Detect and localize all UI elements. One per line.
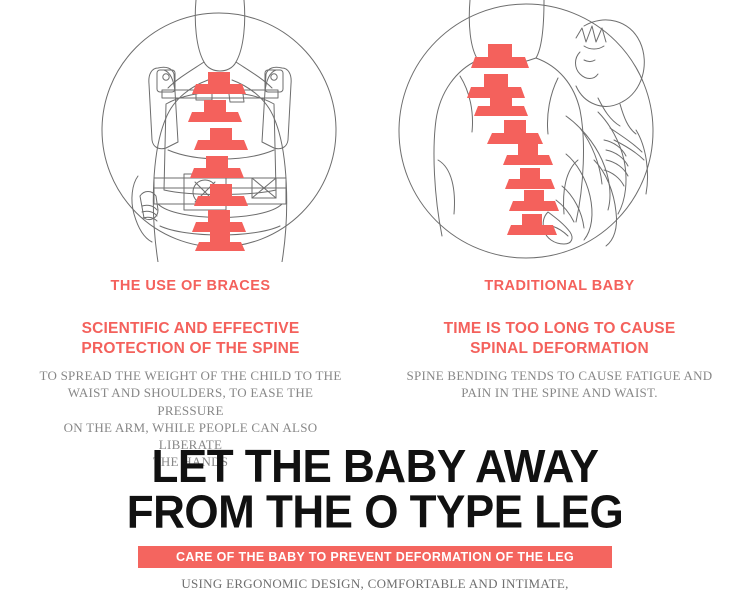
baby-carrier-spine-illustration (100, 0, 340, 267)
kicker-right: TRADITIONAL BABY (403, 278, 716, 295)
headline-line-1: LET THE BABY AWAY (0, 444, 750, 490)
body-right-line2: PAIN IN THE SPINE AND WAIST. (461, 385, 657, 400)
subhead-left-line2: PROTECTION OF THE SPINE (81, 340, 299, 357)
kicker-left: THE USE OF BRACES (34, 278, 347, 295)
body-right-line1: SPINE BENDING TENDS TO CAUSE FATIGUE AND (407, 368, 713, 383)
illustrations-row (0, 0, 750, 268)
body-left-line2: WAIST AND SHOULDERS, TO EASE THE PRESSUR… (68, 385, 313, 417)
body-left-line1: TO SPREAD THE WEIGHT OF THE CHILD TO THE (39, 368, 341, 383)
footer-tagline: USING ERGONOMIC DESIGN, COMFORTABLE AND … (0, 576, 750, 592)
banner-strip: CARE OF THE BABY TO PREVENT DEFORMATION … (138, 546, 612, 568)
subhead-right-line1: TIME IS TOO LONG TO CAUSE (444, 320, 676, 337)
subhead-right: TIME IS TOO LONG TO CAUSE SPINAL DEFORMA… (403, 319, 716, 359)
traditional-carry-spine-illustration (398, 0, 658, 269)
subhead-left-line1: SCIENTIFIC AND EFFECTIVE (82, 320, 300, 337)
banner-text: CARE OF THE BABY TO PREVENT DEFORMATION … (176, 550, 574, 564)
subhead-left: SCIENTIFIC AND EFFECTIVE PROTECTION OF T… (34, 319, 347, 359)
body-right: SPINE BENDING TENDS TO CAUSE FATIGUE AND… (403, 367, 716, 402)
page-headline: LET THE BABY AWAY FROM THE O TYPE LEG (0, 444, 750, 535)
subhead-right-line2: SPINAL DEFORMATION (470, 340, 649, 357)
headline-line-2: FROM THE O TYPE LEG (0, 490, 750, 536)
